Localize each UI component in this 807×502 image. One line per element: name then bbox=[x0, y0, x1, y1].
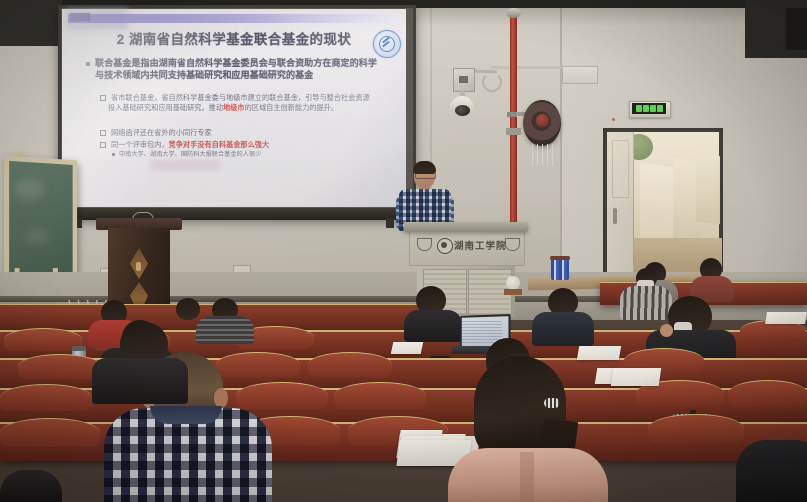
attendee-torso-navy-right bbox=[736, 440, 807, 502]
chalk-smudge bbox=[14, 178, 44, 200]
security-camera-lens bbox=[455, 105, 470, 116]
lectern-top bbox=[404, 222, 528, 232]
laptop-screen-text bbox=[462, 319, 502, 343]
foreground-silhouette-left bbox=[0, 470, 62, 502]
lecture-hall-photo: 2 湖南省自然科学基金联合基金的现状 联合基金是指由湖南省自然科学基金委员会与联… bbox=[0, 0, 807, 502]
fire-pipe-cap bbox=[506, 8, 521, 18]
fan-hub bbox=[536, 114, 549, 127]
seat-back-r4-5 bbox=[728, 380, 807, 407]
attendee-ear-right bbox=[214, 388, 228, 408]
seat-back-r4-3 bbox=[334, 382, 426, 409]
projection-screen-glare bbox=[62, 9, 406, 207]
camera-junction-box-panel bbox=[459, 76, 468, 83]
fire-pipe-clamp bbox=[506, 128, 521, 135]
ceiling-beam-left bbox=[0, 0, 62, 46]
seat-back-r2-1 bbox=[4, 328, 82, 351]
paper-stack-2 bbox=[577, 346, 621, 360]
wall-mark bbox=[612, 118, 615, 121]
attendee-torso-striped-2 bbox=[196, 316, 254, 344]
attendee-torso-laptop-user bbox=[404, 310, 462, 342]
ceiling-vent bbox=[786, 8, 807, 50]
floor-plant-stand bbox=[504, 289, 522, 295]
attendee-torso-striped bbox=[620, 286, 672, 320]
attendee-head-grey-polo bbox=[420, 288, 444, 310]
paper-stack-1 bbox=[391, 342, 424, 354]
exit-sign-glyph-1 bbox=[636, 105, 642, 112]
paper-stack-5 bbox=[611, 368, 662, 386]
floor-plant bbox=[506, 276, 520, 290]
attendee-hand bbox=[660, 324, 673, 337]
exit-sign-glyph-3 bbox=[650, 105, 656, 112]
seat-back-r5-4 bbox=[648, 414, 744, 443]
lectern-ornament-left bbox=[417, 238, 432, 251]
blue-bag-rim bbox=[550, 256, 570, 260]
attendee-torso-darkshirt-front bbox=[92, 358, 188, 404]
screen-bracket-right bbox=[386, 218, 394, 228]
fan-pull-cords bbox=[532, 144, 554, 166]
exit-sign-glyph-2 bbox=[643, 105, 649, 112]
left-podium-knob bbox=[136, 262, 141, 271]
attendee-pink-shoulder-seam bbox=[520, 452, 534, 502]
attendee-collar-plaid bbox=[150, 406, 222, 424]
institution-emblem-center bbox=[441, 242, 447, 248]
attendee-head-white-left bbox=[176, 298, 200, 320]
chalk-smudge-2 bbox=[24, 228, 50, 244]
seat-back-r3-1 bbox=[18, 354, 102, 379]
seat-back-r5-1 bbox=[0, 418, 100, 447]
seat-back-r4-2 bbox=[236, 382, 328, 409]
seat-back-r3-2 bbox=[216, 352, 300, 377]
exit-sign-glyph-4 bbox=[657, 105, 663, 112]
seat-back-r4-1 bbox=[0, 384, 92, 411]
attendee-hair-tie bbox=[544, 398, 560, 408]
institution-name: 湖南工学院 bbox=[454, 238, 518, 252]
camera-cable-hook bbox=[482, 72, 502, 92]
wall-rail bbox=[490, 66, 570, 69]
wall-seam bbox=[560, 0, 562, 300]
exit-sign-screen bbox=[632, 103, 666, 114]
wall-shelf bbox=[562, 66, 598, 84]
paper-stack-3 bbox=[765, 312, 807, 324]
attendee-torso-right-mid bbox=[532, 312, 594, 346]
vacuum-bottle-cap bbox=[72, 346, 86, 351]
blue-bag bbox=[551, 258, 569, 280]
seat-back-r3-3 bbox=[308, 352, 392, 377]
presenter-glasses bbox=[415, 172, 436, 179]
